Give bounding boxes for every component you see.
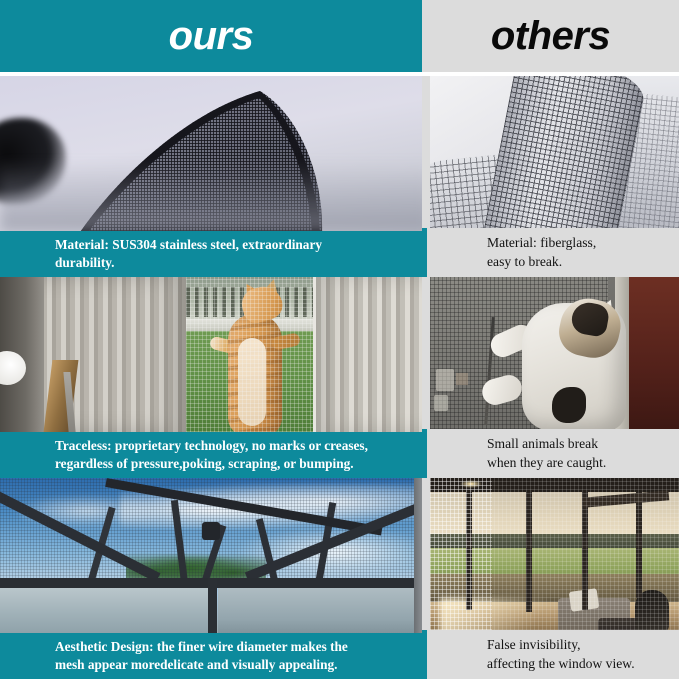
comparison-row-2: Traceless: proprietary technology, no ma… (0, 277, 679, 478)
caption-line: when they are caught. (487, 454, 673, 472)
caption-line: Traceless: proprietary technology, no ma… (55, 437, 422, 455)
screened-patio-enclosure-photo (0, 478, 430, 633)
comparison-row-3: Aesthetic Design: the finer wire diamete… (0, 478, 679, 679)
fiberglass-mesh-roll-photo (430, 76, 679, 228)
visible-screen-mesh-left (430, 478, 492, 630)
stainless-steel-mesh-cone-photo (0, 76, 430, 231)
window-reflection-1 (436, 369, 454, 391)
enclosure-panel-left (0, 588, 212, 633)
enclosure-panel-right (218, 588, 414, 633)
row-2-others-cell: Small animals break when they are caught… (422, 277, 679, 478)
caption-line: Material: SUS304 stainless steel, extrao… (55, 236, 422, 254)
header-ours-label: ours (169, 14, 254, 59)
screen-mesh-overlay (186, 277, 313, 432)
comparison-header: ours others (0, 0, 679, 72)
row-3-ours-caption: Aesthetic Design: the finer wire diamete… (0, 633, 430, 679)
caption-line: easy to break. (487, 253, 673, 271)
caption-line: Aesthetic Design: the finer wire diamete… (55, 638, 422, 656)
header-others-panel: others (422, 0, 679, 72)
caption-line: mesh appear moredelicate and visually ap… (55, 656, 422, 674)
calico-dark-patch (552, 387, 586, 423)
row-3-ours-cell: Aesthetic Design: the finer wire diamete… (0, 478, 430, 679)
header-ours-panel: ours (0, 0, 422, 72)
row-1-ours-cell: Material: SUS304 stainless steel, extrao… (0, 76, 430, 277)
row-1-others-cell: Material: fiberglass, easy to break. (422, 76, 679, 277)
comparison-infographic: ours others Material: SUS304 stainless s… (0, 0, 679, 679)
row-2-others-caption: Small animals break when they are caught… (422, 429, 679, 478)
caption-line: Small animals break (487, 435, 673, 453)
corner-post (208, 578, 217, 633)
comparison-row-1: Material: SUS304 stainless steel, extrao… (0, 76, 679, 277)
caption-line: durability. (55, 254, 422, 272)
caption-line: Material: fiberglass, (487, 234, 673, 252)
window-reflection-2 (434, 395, 448, 411)
calico-cat-clawing-torn-screen-photo (430, 277, 679, 429)
roof-apex-joint (202, 522, 220, 540)
caption-line: affecting the window view. (487, 655, 673, 673)
row-2-ours-caption: Traceless: proprietary technology, no ma… (0, 432, 430, 478)
caption-line: regardless of pressure,poking, scraping,… (55, 455, 422, 473)
surface-haze (0, 161, 430, 231)
screen-doorway (186, 277, 316, 432)
row-2-ours-cell: Traceless: proprietary technology, no ma… (0, 277, 430, 478)
right-wall (627, 277, 679, 429)
living-room-obscured-view-photo (430, 478, 679, 630)
orange-cat-at-intact-screen-photo (0, 277, 430, 432)
row-1-ours-caption: Material: SUS304 stainless steel, extrao… (0, 231, 430, 277)
row-3-others-cell: False invisibility, affecting the window… (422, 478, 679, 679)
caption-line: False invisibility, (487, 636, 673, 654)
header-others-label: others (491, 14, 610, 59)
right-curtain (316, 277, 430, 432)
row-3-others-caption: False invisibility, affecting the window… (422, 630, 679, 679)
window-reflection-3 (456, 373, 468, 385)
row-1-others-caption: Material: fiberglass, easy to break. (422, 228, 679, 277)
